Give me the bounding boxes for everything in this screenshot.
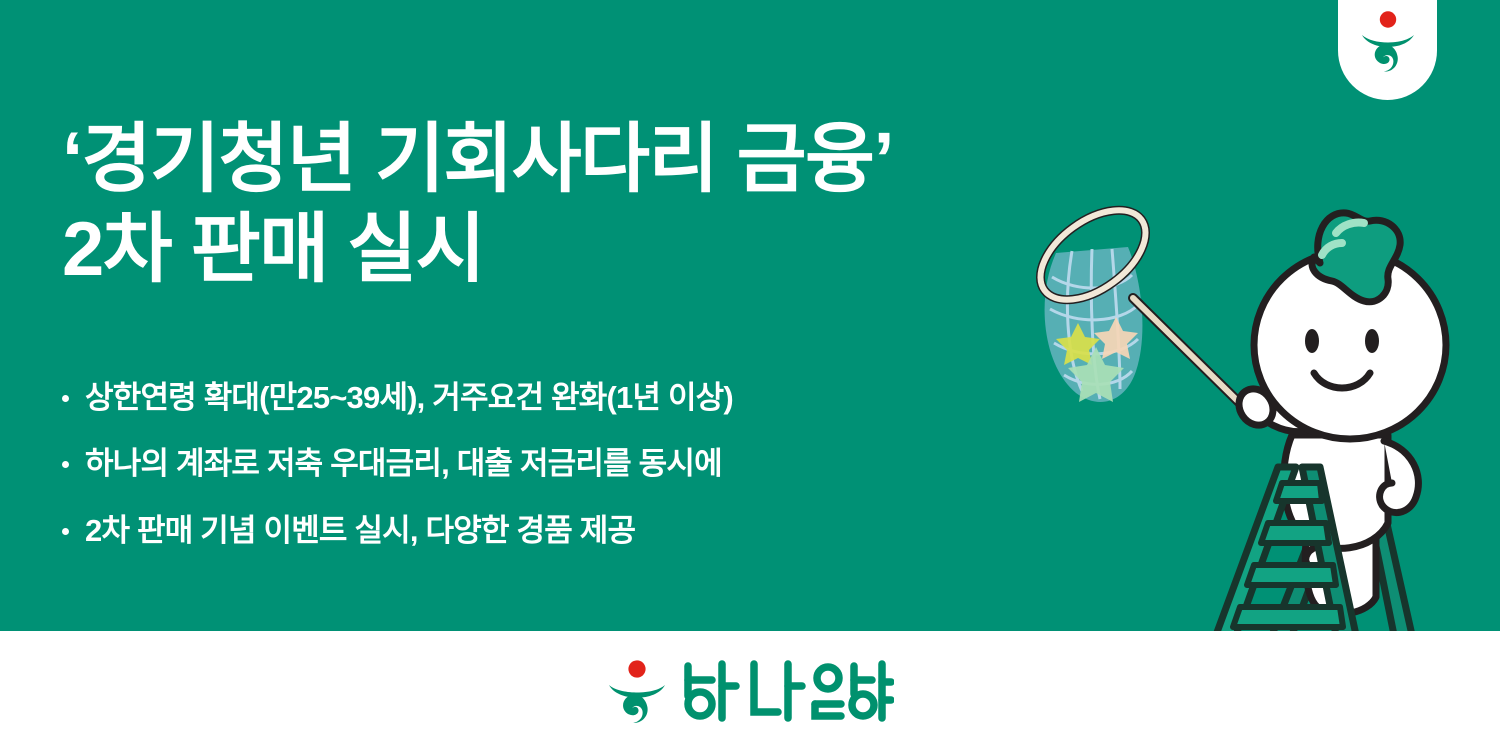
bullet-dot-icon [62,461,69,468]
headline: ‘경기청년 기회사다리 금융’ 2차 판매 실시 [62,115,1062,294]
footer-bar [0,631,1500,750]
brand-badge [1338,0,1437,100]
feature-bullet-list: 상한연령 확대(만25~39세), 거주요건 완화(1년 이상) 하나의 계좌로… [62,378,733,551]
bullet-text: 2차 판매 기념 이벤트 실시, 다양한 경품 제공 [85,511,635,551]
bullet-dot-icon [62,395,69,402]
mascot-eye-left [1305,329,1319,353]
promotional-banner: ‘경기청년 기회사다리 금융’ 2차 판매 실시 상한연령 확대(만25~39세… [0,0,1500,750]
hana-dancing-figure-icon [606,659,668,723]
list-item: 하나의 계좌로 저축 우대금리, 대출 저금리를 동시에 [62,444,733,484]
list-item: 상한연령 확대(만25~39세), 거주요건 완화(1년 이상) [62,378,733,418]
hana-bank-wordmark [682,660,894,722]
mascot-eye-right [1365,329,1379,353]
bullet-text: 하나의 계좌로 저축 우대금리, 대출 저금리를 동시에 [85,444,722,484]
headline-line-2: 2차 판매 실시 [62,205,1062,295]
headline-line-1: ‘경기청년 기회사다리 금융’ [62,115,1062,205]
mascot-with-butterfly-net-on-ladder [1020,205,1500,631]
hero-green-panel: ‘경기청년 기회사다리 금융’ 2차 판매 실시 상한연령 확대(만25~39세… [0,0,1500,631]
bullet-text: 상한연령 확대(만25~39세), 거주요건 완화(1년 이상) [85,378,733,418]
list-item: 2차 판매 기념 이벤트 실시, 다양한 경품 제공 [62,511,733,551]
hana-bank-logo [606,659,894,723]
hana-dancing-figure-icon [1359,10,1417,72]
bullet-dot-icon [62,528,69,535]
